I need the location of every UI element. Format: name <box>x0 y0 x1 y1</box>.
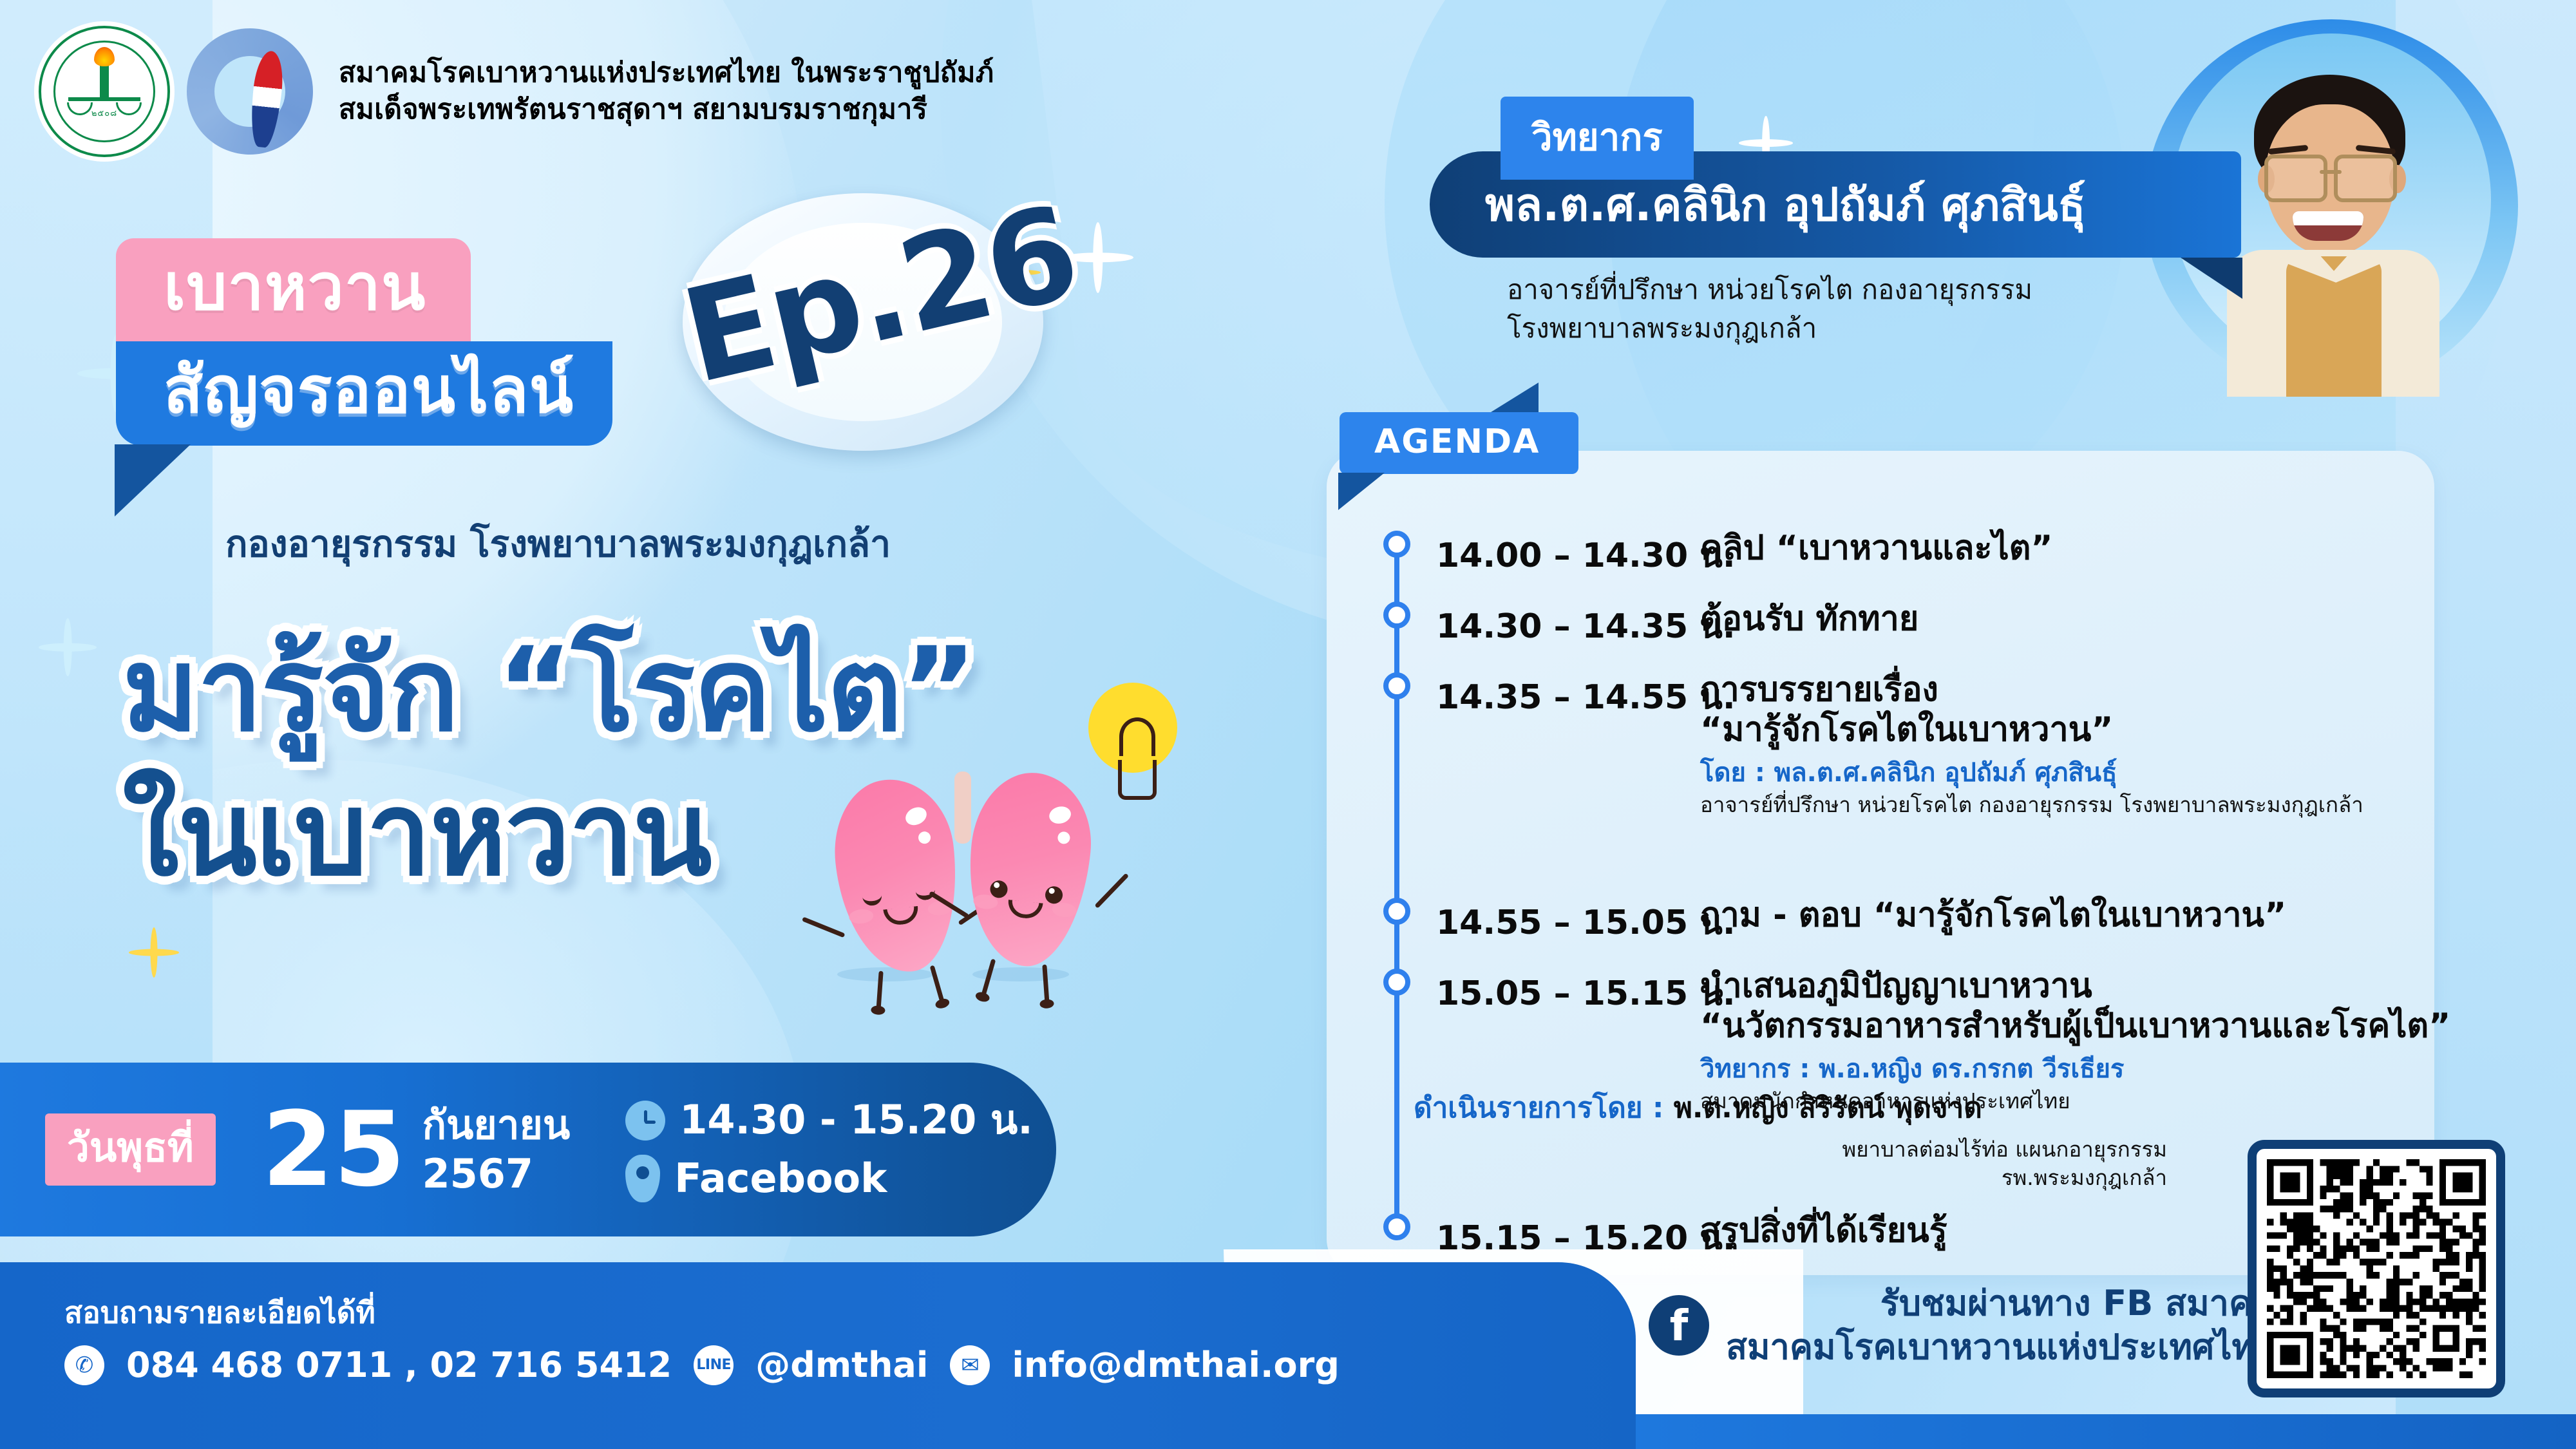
agenda-tag: AGENDA <box>1340 412 1578 474</box>
agenda-timeline-dot <box>1383 1213 1410 1240</box>
agenda-item-title: การบรรยายเรื่อง <box>1700 670 2550 710</box>
agenda-item-title: นำเสนอภูมิปัญญาเบาหวาน <box>1700 966 2550 1006</box>
host-label: ดำเนินรายการโดย : <box>1414 1092 1674 1124</box>
headline-line1: มารู้จัก “โรคไต” <box>122 631 976 750</box>
agenda-timeline-dot <box>1383 601 1410 629</box>
speaker-role-line2: โรงพยาบาลพระมงกุฎเกล้า <box>1507 309 2032 348</box>
agenda-item-title: “มารู้จักโรคไตในเบาหวาน” <box>1700 710 2550 750</box>
agenda-item-note: อาจารย์ที่ปรึกษา หน่วยโรคไต กองอายุรกรรม… <box>1700 791 2550 819</box>
agenda-item-time: 14.00 – 14.30 น. <box>1436 528 1707 582</box>
speaker-role: อาจารย์ที่ปรึกษา หน่วยโรคไต กองอายุรกรรม… <box>1507 270 2032 347</box>
watch-line1: รับชมผ่านทาง FB สมาคม <box>1726 1282 2275 1325</box>
agenda-item-speaker: วิทยากร : พ.อ.หญิง ดร.กรกต วีรเธียร <box>1700 1053 2550 1085</box>
poster-canvas: ๒๕๐๘ สมาคมโรคเบาหวานแห่งประเทศไทย ในพระร… <box>0 0 2576 1449</box>
watch-line2: สมาคมโรคเบาหวานแห่งประเทศไทย <box>1726 1325 2275 1369</box>
event-day-number: 25 <box>262 1102 406 1197</box>
weekday-badge: วันพุธที่ <box>45 1113 216 1186</box>
agenda-item-time: 14.55 – 15.05 น. <box>1436 895 1707 949</box>
footer-email[interactable]: info@dmthai.org <box>1012 1345 1340 1385</box>
footer-bar: สอบถามรายละเอียดได้ที่ ✆ 084 468 0711 , … <box>0 1262 1636 1449</box>
show-title-pink: เบาหวาน <box>116 238 471 341</box>
sparkle-icon <box>129 927 179 978</box>
agenda-item-time: 14.30 – 14.35 น. <box>1436 599 1707 652</box>
kidney-character-right <box>960 767 1098 972</box>
event-month: กันยายน <box>422 1101 570 1150</box>
agenda-timeline-dot <box>1383 898 1410 925</box>
footer-contacts: ✆ 084 468 0711 , 02 716 5412 LINE @dmtha… <box>64 1345 1340 1385</box>
agenda-item-time: 14.35 – 14.55 น. <box>1436 670 1707 723</box>
event-year: 2567 <box>422 1150 570 1198</box>
footer-facebook-block[interactable]: f รับชมผ่านทาง FB สมาคม สมาคมโรคเบาหวานแ… <box>1649 1282 2275 1369</box>
footer-phone[interactable]: 084 468 0711 , 02 716 5412 <box>126 1345 672 1385</box>
episode-badge: Ep.26 <box>683 193 1043 451</box>
line-icon: LINE <box>694 1345 734 1385</box>
seal-year: ๒๕๐๘ <box>91 106 117 120</box>
bg-left-band <box>0 0 213 1069</box>
facebook-icon: f <box>1649 1295 1709 1356</box>
speaker-role-line1: อาจารย์ที่ปรึกษา หน่วยโรคไต กองอายุรกรรม <box>1507 270 2032 309</box>
speaker-tag: วิทยากร <box>1501 97 1694 180</box>
phone-icon: ✆ <box>64 1345 104 1385</box>
association-name-line1: สมาคมโรคเบาหวานแห่งประเทศไทย ในพระราชูปถ… <box>339 55 994 91</box>
sparkle-icon <box>39 618 97 676</box>
show-title-block: เบาหวาน สัญจรออนไลน์ <box>116 238 612 446</box>
headline-line2: ในเบาหวาน <box>122 775 976 894</box>
footer-line-id[interactable]: @dmthai <box>755 1345 928 1385</box>
show-subtitle: กองอายุรกรรม โรงพยาบาลพระมงกุฎเกล้า <box>225 515 891 573</box>
event-time: 14.30 - 15.20 น. <box>679 1095 1033 1145</box>
location-pin-icon <box>625 1155 660 1202</box>
dmthai-ring-logo <box>187 28 313 155</box>
host-sub-line1: พยาบาลต่อมไร้ท่อ แผนกอายุรกรรม <box>1414 1135 2167 1164</box>
dat-seal-logo: ๒๕๐๘ <box>39 26 170 157</box>
event-time-platform: 14.30 - 15.20 น. Facebook <box>625 1095 1033 1204</box>
email-icon: ✉ <box>950 1345 990 1385</box>
show-title-blue: สัญจรออนไลน์ <box>116 341 612 446</box>
agenda-item-time: 15.05 – 15.15 น. <box>1436 966 1707 1019</box>
event-date-bar: วันพุธที่ 25 กันยายน 2567 14.30 - 15.20 … <box>0 1063 1056 1236</box>
association-name: สมาคมโรคเบาหวานแห่งประเทศไทย ในพระราชูปถ… <box>339 55 994 128</box>
footer-ask-label: สอบถามรายละเอียดได้ที่ <box>64 1289 375 1336</box>
host-name: พ.ต.หญิง สิริรัตน์ พุดจาด <box>1674 1092 1982 1124</box>
event-month-year: กันยายน 2567 <box>422 1101 570 1198</box>
agenda-item-title: ต้อนรับ ทักทาย <box>1700 599 2550 639</box>
agenda-item-title: “นวัตกรรมอาหารสำหรับผู้เป็นเบาหวานและโรค… <box>1700 1006 2550 1046</box>
qr-code[interactable] <box>2248 1140 2505 1397</box>
agenda-item-speaker: โดย : พล.ต.ศ.คลินิก อุปถัมภ์ ศุภสินธุ์ <box>1700 757 2550 789</box>
agenda-timeline-dot <box>1383 531 1410 558</box>
agenda-item-body: คลิป “เบาหวานและไต” <box>1700 528 2550 568</box>
lightbulb-icon <box>1088 683 1185 818</box>
association-name-line2: สมเด็จพระเทพรัตนราชสุดาฯ สยามบรมราชกุมาร… <box>339 91 994 128</box>
program-host: ดำเนินรายการโดย : พ.ต.หญิง สิริรัตน์ พุด… <box>1414 1085 2380 1191</box>
agenda-item-body: ต้อนรับ ทักทาย <box>1700 599 2550 639</box>
agenda-timeline <box>1394 544 1399 1226</box>
agenda-timeline-dot <box>1383 969 1410 996</box>
clock-icon <box>625 1101 665 1141</box>
speaker-portrait <box>2215 75 2447 397</box>
host-sub-line2: รพ.พระมงกุฎเกล้า <box>1414 1164 2167 1192</box>
agenda-item-title: คลิป “เบาหวานและไต” <box>1700 528 2550 568</box>
association-header: ๒๕๐๘ สมาคมโรคเบาหวานแห่งประเทศไทย ในพระร… <box>39 26 994 157</box>
event-platform: Facebook <box>674 1154 887 1204</box>
headline: มารู้จัก “โรคไต” ในเบาหวาน <box>122 631 976 893</box>
agenda-item-body: การบรรยายเรื่อง“มารู้จักโรคไตในเบาหวาน”โ… <box>1700 670 2550 819</box>
agenda-timeline-dot <box>1383 672 1410 699</box>
agenda-item-title: ถาม - ตอบ “มารู้จักโรคไตในเบาหวาน” <box>1700 895 2550 935</box>
agenda-item-body: ถาม - ตอบ “มารู้จักโรคไตในเบาหวาน” <box>1700 895 2550 935</box>
